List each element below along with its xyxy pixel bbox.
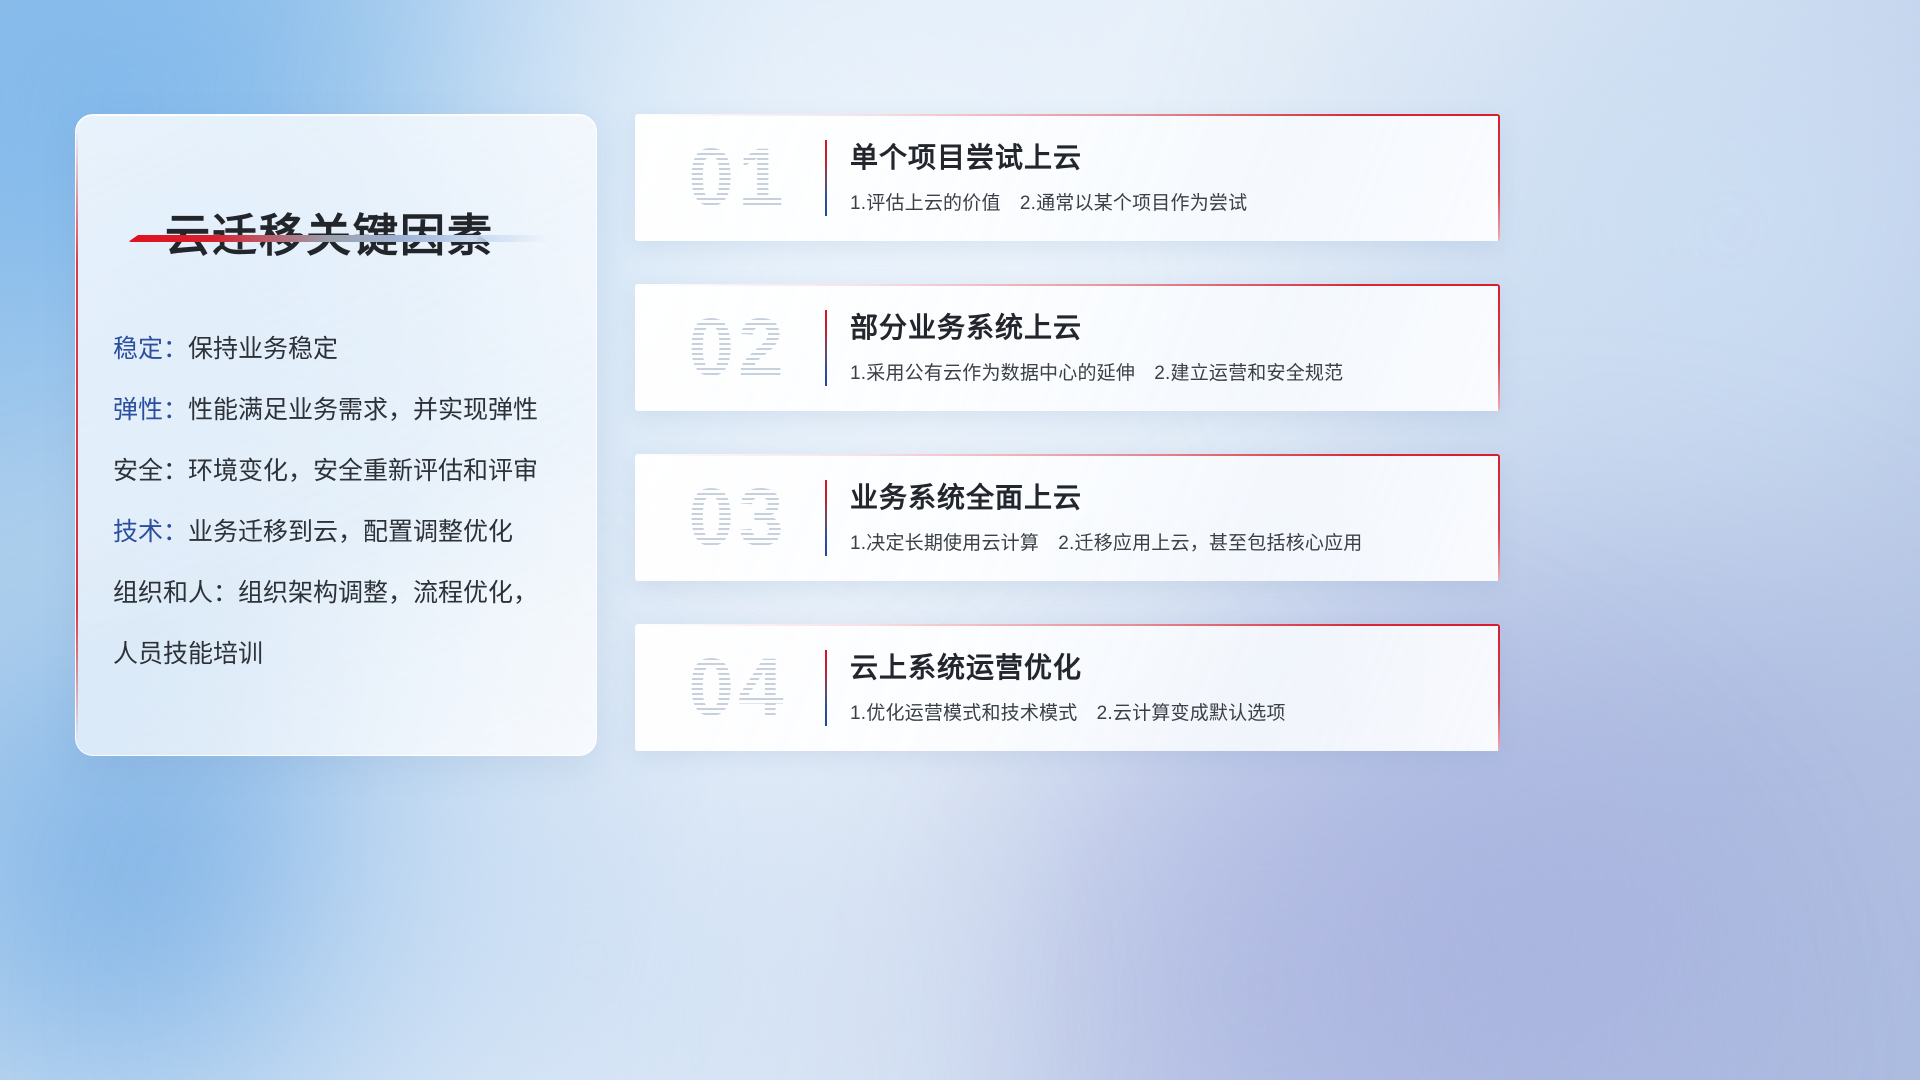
key-factor-item: 人员技能培训 — [113, 624, 568, 685]
key-factor-label: 安全： — [113, 457, 188, 485]
stage-description: 1.优化运营模式和技术模式 2.云计算变成默认选项 — [850, 698, 1286, 725]
key-factor-item: 稳定：保持业务稳定 — [113, 319, 568, 380]
key-factor-text: 业务迁移到云，配置调整优化 — [188, 518, 513, 546]
title-underline — [128, 235, 548, 242]
stage-number: 03 — [663, 468, 813, 568]
stage-divider — [825, 310, 827, 386]
stage-description: 1.评估上云的价值 2.通常以某个项目作为尝试 — [850, 188, 1247, 215]
stage-title: 部分业务系统上云 — [850, 306, 1082, 346]
migration-stage-card[interactable]: 04云上系统运营优化1.优化运营模式和技术模式 2.云计算变成默认选项 — [635, 624, 1500, 751]
key-factor-text: 性能满足业务需求，并实现弹性 — [188, 396, 538, 424]
key-factor-label: 技术： — [113, 518, 188, 546]
key-factors-panel: 云迁移关键因素 稳定：保持业务稳定弹性：性能满足业务需求，并实现弹性安全：环境变… — [75, 114, 597, 756]
key-factor-text: 环境变化，安全重新评估和评审 — [188, 457, 538, 485]
stage-divider — [825, 650, 827, 726]
migration-stage-list: 01单个项目尝试上云1.评估上云的价值 2.通常以某个项目作为尝试02部分业务系… — [635, 114, 1500, 794]
stage-title: 云上系统运营优化 — [850, 646, 1082, 686]
stage-divider — [825, 480, 827, 556]
stage-description: 1.决定长期使用云计算 2.迁移应用上云，甚至包括核心应用 — [850, 528, 1363, 555]
stage-number: 02 — [663, 298, 813, 398]
key-factor-label: 稳定： — [113, 335, 188, 363]
migration-stage-card[interactable]: 03业务系统全面上云1.决定长期使用云计算 2.迁移应用上云，甚至包括核心应用 — [635, 454, 1500, 581]
stage-number: 04 — [663, 638, 813, 738]
key-factors-list: 稳定：保持业务稳定弹性：性能满足业务需求，并实现弹性安全：环境变化，安全重新评估… — [113, 319, 568, 685]
migration-stage-card[interactable]: 02部分业务系统上云1.采用公有云作为数据中心的延伸 2.建立运营和安全规范 — [635, 284, 1500, 411]
key-factor-label: 组织和人： — [113, 579, 238, 607]
key-factor-text: 组织架构调整，流程优化， — [238, 579, 538, 607]
key-factor-text: 人员技能培训 — [113, 640, 263, 668]
stage-description: 1.采用公有云作为数据中心的延伸 2.建立运营和安全规范 — [850, 358, 1343, 385]
stage-title: 业务系统全面上云 — [850, 476, 1082, 516]
stage-number: 01 — [663, 128, 813, 228]
key-factor-item: 组织和人：组织架构调整，流程优化， — [113, 563, 568, 624]
slide-content: 云迁移关键因素 稳定：保持业务稳定弹性：性能满足业务需求，并实现弹性安全：环境变… — [0, 0, 1920, 1080]
panel-title: 云迁移关键因素 — [165, 199, 494, 264]
key-factor-item: 安全：环境变化，安全重新评估和评审 — [113, 441, 568, 502]
key-factor-text: 保持业务稳定 — [188, 335, 338, 363]
stage-divider — [825, 140, 827, 216]
key-factor-label: 弹性： — [113, 396, 188, 424]
key-factor-item: 技术：业务迁移到云，配置调整优化 — [113, 502, 568, 563]
key-factor-item: 弹性：性能满足业务需求，并实现弹性 — [113, 380, 568, 441]
migration-stage-card[interactable]: 01单个项目尝试上云1.评估上云的价值 2.通常以某个项目作为尝试 — [635, 114, 1500, 241]
stage-title: 单个项目尝试上云 — [850, 136, 1082, 176]
